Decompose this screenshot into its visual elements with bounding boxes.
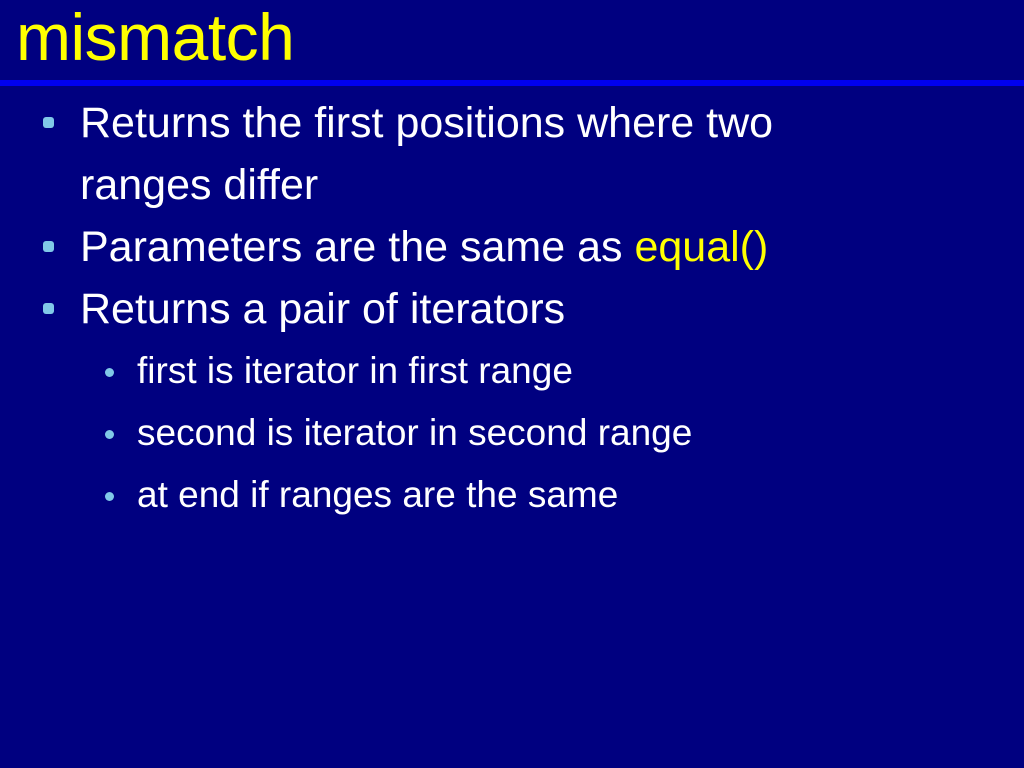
page-title: mismatch bbox=[16, 0, 294, 78]
bullet-item: Returns the first positions where two ra… bbox=[0, 92, 1024, 216]
sub-bullet-text: second is iterator in second range bbox=[137, 412, 692, 453]
bullet-item: Returns a pair of iterators bbox=[0, 278, 1024, 340]
slide-title-area: mismatch bbox=[0, 0, 1024, 82]
bullet-dot-icon bbox=[43, 117, 54, 128]
bullet-text: Parameters are the same as bbox=[80, 223, 634, 271]
presentation-slide: mismatch Returns the first positions whe… bbox=[0, 0, 1024, 768]
bullet-text: Returns a pair of iterators bbox=[80, 285, 565, 333]
bullet-dot-icon bbox=[105, 430, 114, 439]
bullet-dot-icon bbox=[43, 241, 54, 252]
bullet-dot-icon bbox=[43, 303, 54, 314]
sub-bullet-item: at end if ranges are the same bbox=[0, 464, 1024, 526]
bullet-item: Parameters are the same as equal() bbox=[0, 216, 1024, 278]
sub-bullet-text: at end if ranges are the same bbox=[137, 474, 618, 515]
sub-bullet-text: first is iterator in first range bbox=[137, 350, 573, 391]
bullet-dot-icon bbox=[105, 492, 114, 501]
title-divider-rule bbox=[0, 80, 1024, 86]
bullet-text-continuation: ranges differ bbox=[80, 154, 1024, 216]
bullet-text: Returns the first positions where two bbox=[80, 99, 773, 147]
sub-bullet-item: second is iterator in second range bbox=[0, 402, 1024, 464]
sub-bullet-item: first is iterator in first range bbox=[0, 340, 1024, 402]
bullet-text-highlight: equal() bbox=[634, 223, 768, 271]
slide-body: Returns the first positions where two ra… bbox=[0, 92, 1024, 526]
bullet-dot-icon bbox=[105, 368, 114, 377]
